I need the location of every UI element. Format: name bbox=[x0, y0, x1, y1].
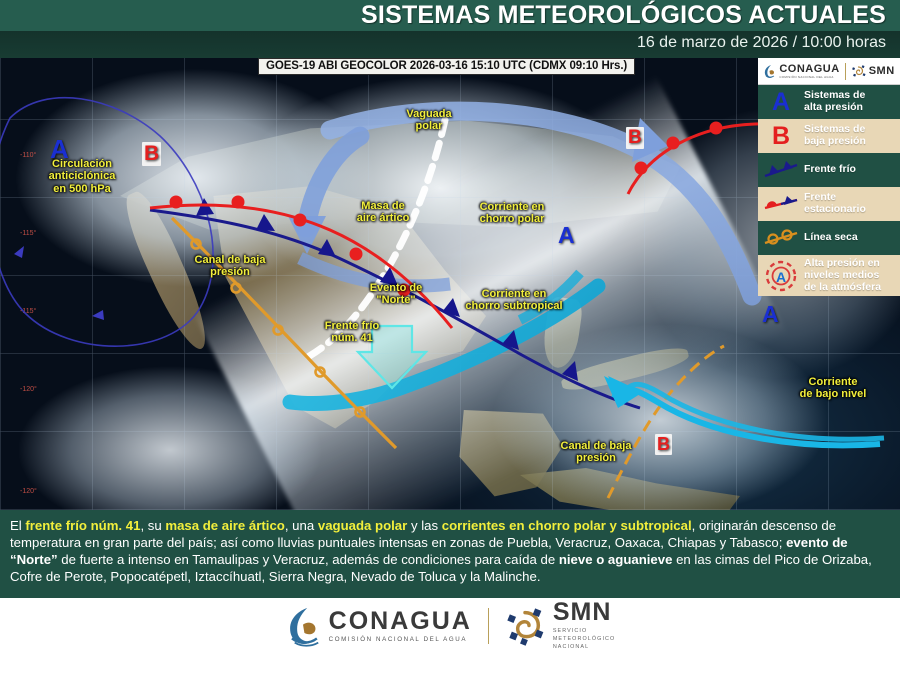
legend-item-mid-level-high[interactable]: A Alta presión en niveles medios de la a… bbox=[758, 255, 900, 296]
summary-segment: , una bbox=[285, 518, 318, 533]
summary-segment: de fuerte a intenso en Tamaulipas y Vera… bbox=[58, 552, 559, 567]
legend-item-cold-front[interactable]: Frente frío bbox=[758, 153, 900, 187]
cold-front-icon bbox=[762, 160, 800, 180]
footer-smn-name: SMN bbox=[553, 600, 616, 625]
svg-text:A: A bbox=[776, 269, 786, 285]
summary-segment: nieve o aguanieve bbox=[559, 552, 673, 567]
high-pressure-mark-florida: A bbox=[558, 222, 575, 249]
low-level-jet-arrow bbox=[604, 376, 884, 445]
letter-a-icon: A bbox=[762, 90, 800, 115]
satellite-source-banner: GOES-19 ABI GEOCOLOR 2026-03-16 15:10 UT… bbox=[258, 58, 635, 75]
footer-conagua-name: CONAGUA bbox=[329, 609, 472, 634]
legend-conagua-sub: COMISIÓN NACIONAL DEL AGUA bbox=[779, 76, 839, 79]
footer-smn-logo: SMN SERVICIO METEOROLÓGICO NACIONAL bbox=[505, 600, 616, 651]
footer-logo-divider bbox=[488, 608, 489, 644]
map-legend: CONAGUA COMISIÓN NACIONAL DEL AGUA SMN A… bbox=[758, 58, 900, 296]
legend-conagua-name: CONAGUA bbox=[779, 64, 839, 75]
high-pressure-mark-caribbean: A bbox=[762, 301, 779, 328]
page-footer: CONAGUA COMISIÓN NACIONAL DEL AGUA SMN S… bbox=[0, 598, 900, 675]
legend-item-high-pressure[interactable]: A Sistemas de alta presión bbox=[758, 85, 900, 119]
water-drop-icon bbox=[763, 64, 776, 79]
summary-segment: , su bbox=[140, 518, 165, 533]
letter-b-glyph: B bbox=[772, 124, 790, 149]
letter-a-glyph: A bbox=[772, 90, 790, 115]
low-pressure-mark-atlantic: B bbox=[626, 127, 644, 149]
low-pressure-mark-centralam: B bbox=[655, 434, 672, 455]
legend-conagua-logo: CONAGUA COMISIÓN NACIONAL DEL AGUA bbox=[763, 64, 839, 79]
legend-logo-divider bbox=[845, 63, 846, 80]
legend-smn-name: SMN bbox=[869, 66, 895, 77]
stationary-front-icon bbox=[762, 194, 800, 214]
low-pressure-mark-baja: B bbox=[142, 142, 161, 166]
legend-item-label: Frente frío bbox=[804, 164, 856, 176]
summary-segment: corrientes en chorro polar y subtropical bbox=[442, 518, 692, 533]
footer-conagua-logo: CONAGUA COMISIÓN NACIONAL DEL AGUA bbox=[285, 605, 472, 647]
smn-spiral-icon bbox=[851, 64, 866, 79]
header-date: 16 de marzo de 2026 / 10:00 horas bbox=[637, 34, 886, 52]
legend-item-label: Línea seca bbox=[804, 232, 858, 244]
legend-item-label: Sistemas de alta presión bbox=[804, 90, 865, 114]
arctic-air-mass-arrow bbox=[288, 136, 450, 286]
legend-item-dry-line[interactable]: Línea seca bbox=[758, 221, 900, 255]
footer-conagua-sub: COMISIÓN NACIONAL DEL AGUA bbox=[329, 637, 472, 643]
smn-spiral-icon bbox=[505, 606, 545, 646]
summary-segment: masa de aire ártico bbox=[165, 518, 285, 533]
legend-item-label: Alta presión en niveles medios de la atm… bbox=[804, 258, 881, 293]
forecast-summary-text: El frente frío núm. 41, su masa de aire … bbox=[0, 510, 900, 598]
summary-segment: y las bbox=[407, 518, 441, 533]
dry-line-icon bbox=[762, 228, 800, 248]
dry-line-pacific bbox=[172, 218, 396, 448]
mid-level-high-icon: A bbox=[762, 259, 800, 293]
legend-logo-strip: CONAGUA COMISIÓN NACIONAL DEL AGUA SMN bbox=[758, 58, 900, 85]
letter-b-icon: B bbox=[762, 124, 800, 149]
high-pressure-mark-pacific: A bbox=[50, 134, 69, 165]
legend-item-label: Sistemas de baja presión bbox=[804, 124, 866, 148]
summary-segment: frente frío núm. 41 bbox=[25, 518, 140, 533]
legend-smn-logo: SMN bbox=[851, 64, 895, 79]
summary-segment: El bbox=[10, 518, 25, 533]
legend-item-low-pressure[interactable]: B Sistemas de baja presión bbox=[758, 119, 900, 153]
water-drop-icon bbox=[285, 605, 321, 647]
page-title: SISTEMAS METEOROLÓGICOS ACTUALES bbox=[361, 1, 886, 30]
legend-item-label: Frente estacionario bbox=[804, 192, 866, 216]
summary-content: El frente frío núm. 41, su masa de aire … bbox=[10, 518, 872, 584]
summary-segment: vaguada polar bbox=[318, 518, 407, 533]
page-header: SISTEMAS METEOROLÓGICOS ACTUALES 16 de m… bbox=[0, 0, 900, 58]
legend-item-stationary-front[interactable]: Frente estacionario bbox=[758, 187, 900, 221]
anticyclonic-circulation-500hpa bbox=[0, 98, 213, 346]
footer-smn-sub: SERVICIO METEOROLÓGICO NACIONAL bbox=[553, 628, 616, 651]
